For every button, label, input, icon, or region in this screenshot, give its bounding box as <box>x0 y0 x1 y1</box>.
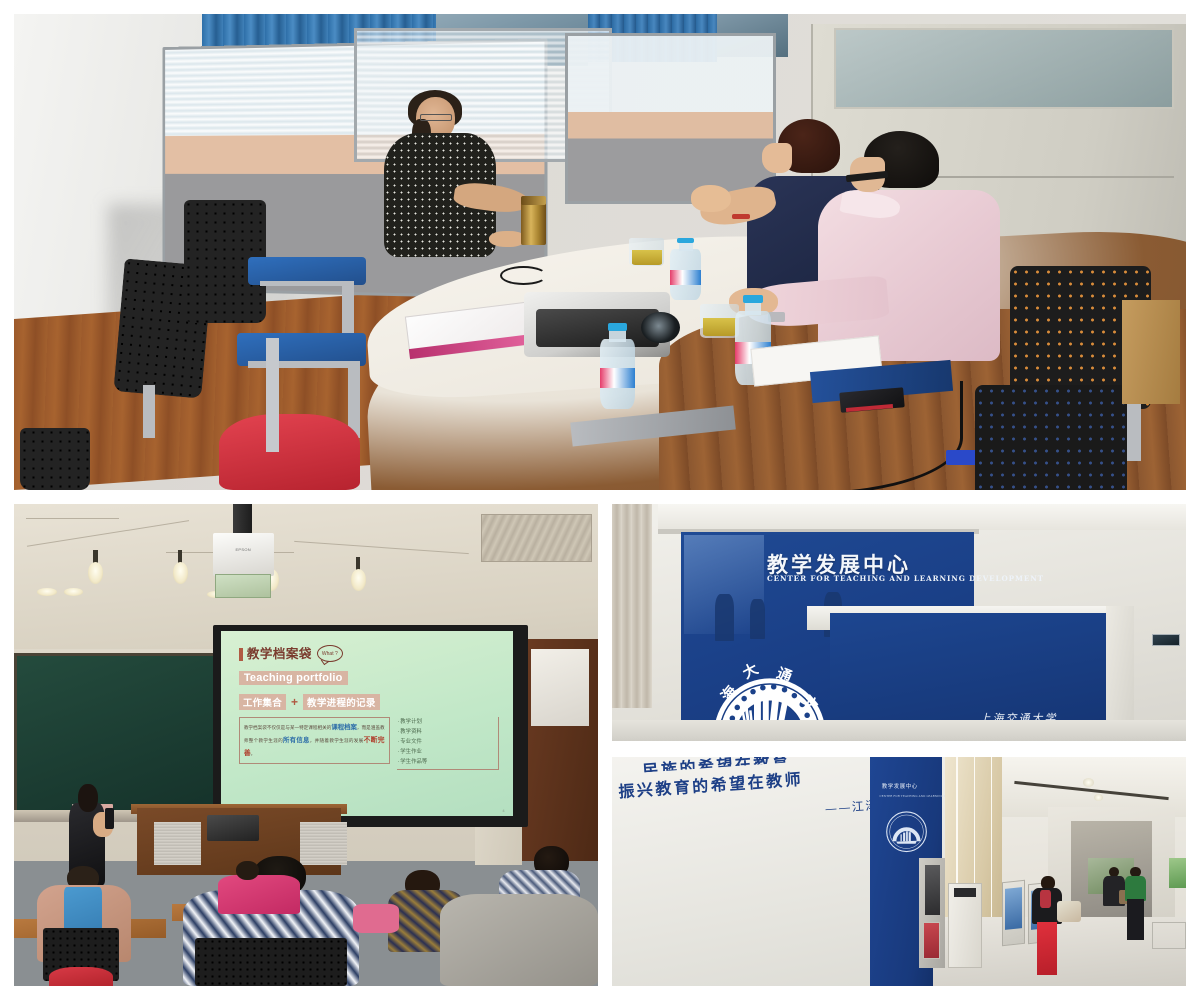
slide-text-part: ，并随着 <box>310 739 330 744</box>
window-curtain <box>612 504 652 708</box>
sjtu-seal-logo-small <box>885 810 928 854</box>
person-hand-gesturing <box>691 185 731 212</box>
eyeglasses <box>420 114 453 121</box>
tea-glass <box>629 238 664 267</box>
list-item: 学生作品等 <box>398 757 496 767</box>
wall-sign-plate <box>1152 634 1181 646</box>
vga-cable <box>659 381 964 490</box>
chair-seat-red <box>49 967 113 986</box>
person-scarf <box>1040 890 1051 908</box>
track-light <box>173 562 188 584</box>
slide-chip-right: 教学进程的记录 <box>303 694 380 710</box>
slide-page-number: 4 <box>502 808 504 813</box>
projection-screen: 教学档案袋 What ? Teaching portfolio 工作集合 + 教… <box>221 631 513 817</box>
list-item: 学生作业 <box>398 747 496 757</box>
person-torso-green <box>1125 876 1147 901</box>
kiosk-screen <box>954 888 977 897</box>
wall-notice <box>1169 858 1186 888</box>
wrist-band <box>732 214 750 219</box>
chair-leg <box>266 338 279 452</box>
slide-text-highlight: 所有信息 <box>283 736 310 744</box>
audience-torso-pink <box>218 875 300 914</box>
audience-torso-grey-foreground <box>440 894 598 986</box>
water-bottle <box>670 238 700 300</box>
slide-definition-box: 教学档案袋不仅仅是与某一特定课程相关的课程档案，而是涵盖教师整个教学生涯的所有信… <box>239 717 390 764</box>
tea-glass <box>700 304 740 337</box>
slide-title: 教学档案袋 <box>239 648 312 661</box>
chair-backrest <box>20 428 90 490</box>
bottle-cap <box>608 323 628 331</box>
slide-formula-row: 工作集合 + 教学进程的记录 <box>239 694 499 710</box>
audience-bag-pink <box>353 904 400 933</box>
ceiling-rail <box>26 518 119 519</box>
chair-frame <box>248 361 353 368</box>
cubicle-partition-right <box>565 33 776 204</box>
thermos-cap <box>521 196 546 205</box>
blackboard <box>14 653 224 817</box>
presentation-slide: 教学档案袋 What ? Teaching portfolio 工作集合 + 教… <box>221 631 513 817</box>
slide-text-highlight: 课程档案 <box>331 723 357 731</box>
projector-brand-label: EPSON <box>221 544 265 555</box>
photo-panel-classroom: EPSON 教学档案袋 What ? Teaching portfolio 工作… <box>14 504 598 986</box>
slide-text-part: 教学生涯的发展 <box>329 739 363 744</box>
presenter-head <box>78 784 98 813</box>
list-item: 教学资料 <box>398 727 496 737</box>
handbag <box>1057 901 1081 922</box>
track-light <box>351 569 366 591</box>
handrail <box>1152 922 1186 949</box>
track-light <box>88 562 103 584</box>
chair-seat-red <box>219 414 360 490</box>
bottle-label <box>600 368 635 389</box>
podium-vent-panel <box>300 822 347 865</box>
slide-text-part: 程相关的 <box>313 726 331 731</box>
track-light <box>1083 778 1094 787</box>
slide-english-subtitle: Teaching portfolio <box>239 671 348 685</box>
lobby-floor <box>612 720 1186 741</box>
chair-leg <box>143 385 155 437</box>
slide-plus-sign: + <box>291 695 298 709</box>
bottle-label <box>670 270 700 285</box>
microphone <box>105 808 114 830</box>
door-window <box>531 649 589 726</box>
photo-panel-meeting-room <box>14 14 1186 490</box>
chair-frame <box>260 281 354 287</box>
air-conditioner-vent <box>481 514 592 562</box>
person-face <box>762 143 792 174</box>
person-trousers <box>1127 899 1143 940</box>
cabinet-glass-door <box>925 865 940 915</box>
cabinet-glass-door <box>834 28 1174 109</box>
projector-base-plate <box>215 574 270 598</box>
slide-text-part: 。 <box>251 752 256 757</box>
counter-side-panel <box>1106 606 1135 729</box>
cabinet-poster <box>923 922 940 959</box>
slide-lower-section: 教学档案袋不仅仅是与某一特定课程相关的课程档案，而是涵盖教师整个教学生涯的所有信… <box>239 717 499 770</box>
photo-collage: EPSON 教学档案袋 What ? Teaching portfolio 工作… <box>0 0 1200 1000</box>
wooden-stool <box>1122 300 1181 405</box>
photo-panel-corridor: 民族的希望在教育 振兴教育的希望在教师 ——江泽民 教学发展中心 CENTER … <box>612 757 1186 986</box>
bottle-cap <box>677 238 694 244</box>
water-bottle <box>600 323 635 409</box>
tea-liquid <box>632 250 662 265</box>
chair-backrest <box>975 385 1127 490</box>
projector-lens <box>641 312 680 343</box>
audience-head <box>236 861 259 880</box>
podium-monitor <box>207 815 260 842</box>
slide-bullet-list: 教学计划 教学资料 专业文件 学生作业 学生作品等 <box>397 717 499 770</box>
chair-backrest <box>195 938 347 986</box>
person-red-trousers <box>1037 922 1058 975</box>
counter-blue-front <box>830 613 1117 732</box>
svg-text:大: 大 <box>740 660 762 683</box>
photo-panel-center-sign: 教学发展中心 CENTER FOR TEACHING AND LEARNING … <box>612 504 1186 741</box>
bottle-cap <box>743 295 763 303</box>
slide-question-bubble: What ? <box>317 645 343 662</box>
person-torso-pink-shirt <box>818 190 1000 361</box>
slide-chip-left: 工作集合 <box>239 694 286 710</box>
center-name-english: CENTER FOR TEACHING AND LEARNING DEVELOP… <box>767 574 1044 583</box>
pillar-center-name-chinese: 教学发展中心 <box>882 782 918 790</box>
chair-leg <box>342 281 354 338</box>
slide-text-part: 教学档案袋不仅仅是与某一特定课 <box>244 726 313 731</box>
list-item: 教学计划 <box>398 717 496 727</box>
slide-title-row: 教学档案袋 What ? <box>239 648 499 662</box>
ceiling-soffit <box>658 504 1186 530</box>
tea-liquid <box>703 318 736 335</box>
list-item: 专业文件 <box>398 737 496 747</box>
slide-text-part: 整个教学生涯的 <box>249 739 283 744</box>
display-board-poster <box>1005 887 1022 930</box>
podium-vent-panel <box>154 822 201 865</box>
gold-thermos <box>521 200 546 245</box>
